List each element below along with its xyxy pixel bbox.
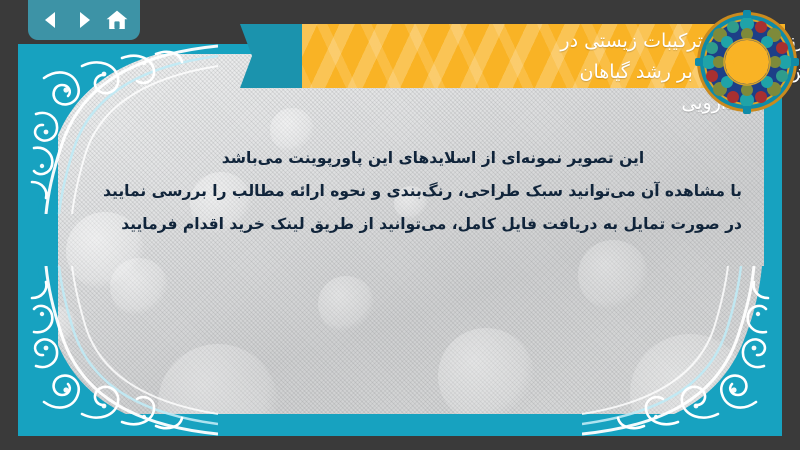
home-icon [105,8,129,32]
forward-button[interactable] [70,6,98,34]
forward-triangle-icon [73,9,95,31]
body-line: با مشاهده آن می‌توانید سبک طراحی، رنگ‌بن… [124,175,742,208]
slide-body-text: این تصویر نمونه‌ای از اسلایدهای این پاور… [124,142,742,241]
arabesque-corner-icon [18,266,218,436]
navigation-bar [28,0,140,40]
slide-title-banner: کامل ارزیابی نقش ترکیبات زیستی در کاهش ا… [240,24,785,88]
persian-medallion-icon [695,10,799,114]
back-triangle-icon [40,9,62,31]
home-button[interactable] [103,6,131,34]
banner-ribbon-tail [240,24,308,88]
back-button[interactable] [37,6,65,34]
body-line: در صورت تمایل به دریافت فایل کامل، می‌تو… [124,208,742,241]
body-line: این تصویر نمونه‌ای از اسلایدهای این پاور… [124,142,742,175]
presentation-viewer: این تصویر نمونه‌ای از اسلایدهای این پاور… [0,0,800,450]
arabesque-corner-icon [582,266,782,436]
